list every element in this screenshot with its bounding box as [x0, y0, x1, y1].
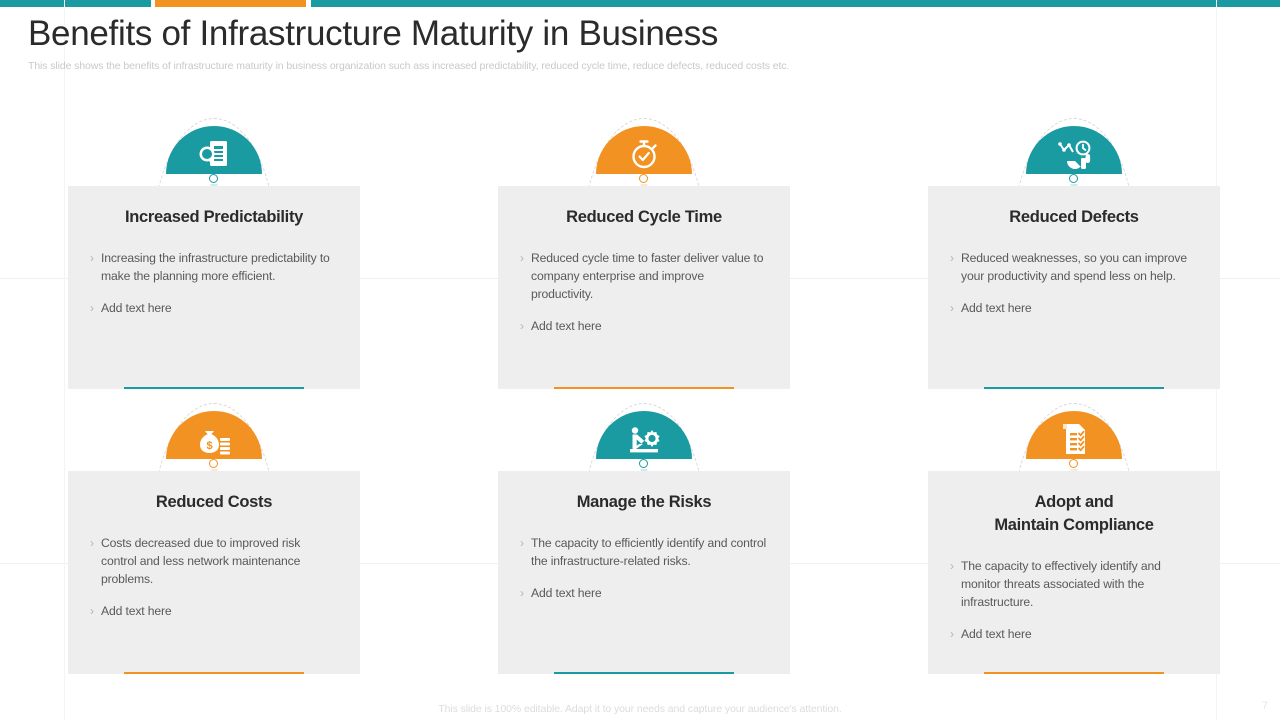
benefit-icon-badge: $: [68, 403, 360, 471]
benefit-bullet: ›Add text here: [90, 299, 338, 317]
benefit-card-grid: Increased Predictability›Increasing the …: [0, 0, 1280, 720]
benefit-bullet: ›Add text here: [520, 317, 768, 335]
benefit-card: Reduced Cycle Time›Reduced cycle time to…: [498, 118, 790, 389]
benefit-card-title: Reduced Defects: [950, 206, 1198, 229]
benefit-bullet-text: Reduced cycle time to faster deliver val…: [531, 249, 768, 303]
checklist-icon: [1026, 411, 1122, 459]
benefit-card: Adopt andMaintain Compliance›The capacit…: [928, 403, 1220, 674]
connector-dot: [1069, 459, 1078, 468]
benefit-card-accent-line: [124, 672, 304, 675]
money-bag-icon: $: [166, 411, 262, 459]
benefit-card-body: Reduced Costs›Costs decreased due to imp…: [68, 471, 360, 674]
benefit-card-title: Reduced Costs: [90, 491, 338, 514]
benefit-bullet-text: Add text here: [101, 299, 172, 317]
benefit-card-body: Reduced Cycle Time›Reduced cycle time to…: [498, 186, 790, 389]
benefit-bullet-text: Increasing the infrastructure predictabi…: [101, 249, 338, 285]
svg-text:$: $: [206, 440, 212, 452]
analytics-chart-icon: [1026, 126, 1122, 174]
benefit-bullet: ›Add text here: [950, 625, 1198, 643]
benefit-card-title: Increased Predictability: [90, 206, 338, 229]
footer-note: This slide is 100% editable. Adapt it to…: [0, 703, 1280, 715]
benefit-bullet-list: ›Reduced cycle time to faster deliver va…: [520, 249, 768, 335]
benefit-card-body: Adopt andMaintain Compliance›The capacit…: [928, 471, 1220, 674]
benefit-card: Reduced Defects›Reduced weaknesses, so y…: [928, 118, 1220, 389]
benefit-card-title: Reduced Cycle Time: [520, 206, 768, 229]
benefit-card-title-line: Manage the Risks: [520, 491, 768, 514]
benefit-icon-badge: [68, 118, 360, 186]
benefit-bullet: ›Add text here: [90, 602, 338, 620]
benefit-bullet: ›The capacity to efficiently identify an…: [520, 534, 768, 570]
benefit-card-accent-line: [554, 672, 734, 675]
benefit-bullet-list: ›The capacity to efficiently identify an…: [520, 534, 768, 602]
chevron-right-icon: ›: [90, 249, 94, 285]
chevron-right-icon: ›: [520, 584, 524, 602]
benefit-card-body: Manage the Risks›The capacity to efficie…: [498, 471, 790, 674]
benefit-card-accent-line: [984, 672, 1164, 675]
page-number: 7: [1262, 700, 1268, 712]
benefit-bullet-text: Add text here: [961, 625, 1032, 643]
benefit-bullet: ›Reduced weaknesses, so you can improve …: [950, 249, 1198, 285]
connector-dot: [209, 459, 218, 468]
benefit-bullet: ›Increasing the infrastructure predictab…: [90, 249, 338, 285]
benefit-bullet: ›Add text here: [520, 584, 768, 602]
benefit-bullet: ›Costs decreased due to improved risk co…: [90, 534, 338, 588]
benefit-card-accent-line: [554, 387, 734, 390]
slide-canvas: Benefits of Infrastructure Maturity in B…: [0, 0, 1280, 720]
connector-dot: [639, 459, 648, 468]
chevron-right-icon: ›: [90, 534, 94, 588]
benefit-card: Increased Predictability›Increasing the …: [68, 118, 360, 389]
benefit-card-title-line: Increased Predictability: [90, 206, 338, 229]
benefit-card: $ Reduced Costs›Costs decreased due to i…: [68, 403, 360, 674]
benefit-card-title-line: Reduced Cycle Time: [520, 206, 768, 229]
benefit-card-title: Manage the Risks: [520, 491, 768, 514]
benefit-bullet-list: ›Increasing the infrastructure predictab…: [90, 249, 338, 317]
chevron-right-icon: ›: [950, 249, 954, 285]
benefit-icon-badge: [498, 403, 790, 471]
chevron-right-icon: ›: [520, 534, 524, 570]
benefit-bullet-list: ›Reduced weaknesses, so you can improve …: [950, 249, 1198, 317]
benefit-card-title-line: Maintain Compliance: [950, 514, 1198, 537]
benefit-card-title: Adopt andMaintain Compliance: [950, 491, 1198, 537]
benefit-bullet-list: ›The capacity to effectively identify an…: [950, 557, 1198, 643]
chevron-right-icon: ›: [90, 299, 94, 317]
benefit-card-body: Reduced Defects›Reduced weaknesses, so y…: [928, 186, 1220, 389]
benefit-bullet: ›Add text here: [950, 299, 1198, 317]
benefit-bullet-text: Add text here: [531, 317, 602, 335]
worker-gear-icon: [596, 411, 692, 459]
connector-dot: [639, 174, 648, 183]
benefit-card-accent-line: [984, 387, 1164, 390]
benefit-bullet: ›The capacity to effectively identify an…: [950, 557, 1198, 611]
benefit-bullet: ›Reduced cycle time to faster deliver va…: [520, 249, 768, 303]
benefit-card-title-line: Reduced Costs: [90, 491, 338, 514]
benefit-bullet-text: Add text here: [961, 299, 1032, 317]
benefit-bullet-text: The capacity to efficiently identify and…: [531, 534, 768, 570]
benefit-bullet-list: ›Costs decreased due to improved risk co…: [90, 534, 338, 620]
benefit-bullet-text: Add text here: [531, 584, 602, 602]
benefit-card-title-line: Reduced Defects: [950, 206, 1198, 229]
connector-dot: [1069, 174, 1078, 183]
chevron-right-icon: ›: [90, 602, 94, 620]
benefit-bullet-text: Costs decreased due to improved risk con…: [101, 534, 338, 588]
benefit-icon-badge: [498, 118, 790, 186]
benefit-bullet-text: The capacity to effectively identify and…: [961, 557, 1198, 611]
chevron-right-icon: ›: [950, 557, 954, 611]
benefit-card-body: Increased Predictability›Increasing the …: [68, 186, 360, 389]
chevron-right-icon: ›: [520, 249, 524, 303]
benefit-icon-badge: [928, 118, 1220, 186]
chevron-right-icon: ›: [950, 625, 954, 643]
benefit-card: Manage the Risks›The capacity to efficie…: [498, 403, 790, 674]
benefit-bullet-text: Reduced weaknesses, so you can improve y…: [961, 249, 1198, 285]
document-search-icon: [166, 126, 262, 174]
benefit-card-title-line: Adopt and: [950, 491, 1198, 514]
connector-dot: [209, 174, 218, 183]
stopwatch-icon: [596, 126, 692, 174]
chevron-right-icon: ›: [950, 299, 954, 317]
chevron-right-icon: ›: [520, 317, 524, 335]
benefit-card-accent-line: [124, 387, 304, 390]
benefit-icon-badge: [928, 403, 1220, 471]
benefit-bullet-text: Add text here: [101, 602, 172, 620]
